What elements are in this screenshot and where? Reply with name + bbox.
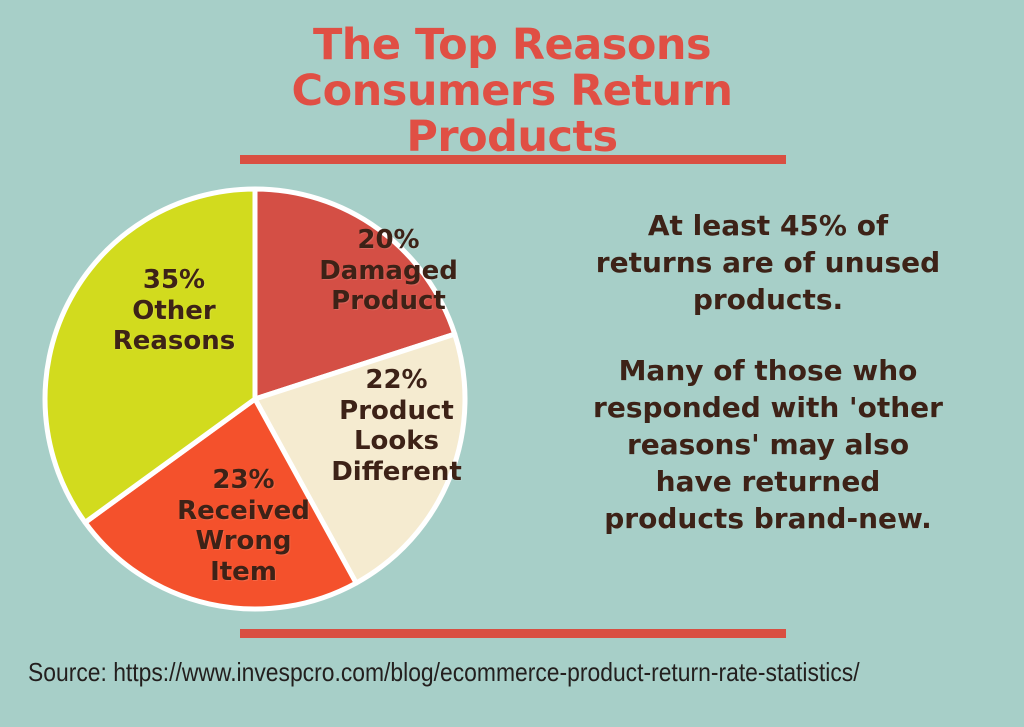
divider-bottom [240,629,786,638]
infographic-canvas: The Top Reasons Consumers Return Product… [0,0,1024,727]
commentary-block: At least 45% of returns are of unused pr… [548,208,988,538]
pie-chart-svg [41,185,469,613]
source-citation: Source: https://www.invespcro.com/blog/e… [28,657,890,688]
divider-top [240,155,786,164]
commentary-note-2: Many of those who responded with 'other … [548,353,988,538]
pie-slices [45,189,465,609]
commentary-note-1: At least 45% of returns are of unused pr… [548,208,988,319]
pie-chart: 20% Damaged Product 22% Product Looks Di… [41,185,469,613]
page-title: The Top Reasons Consumers Return Product… [232,22,792,160]
